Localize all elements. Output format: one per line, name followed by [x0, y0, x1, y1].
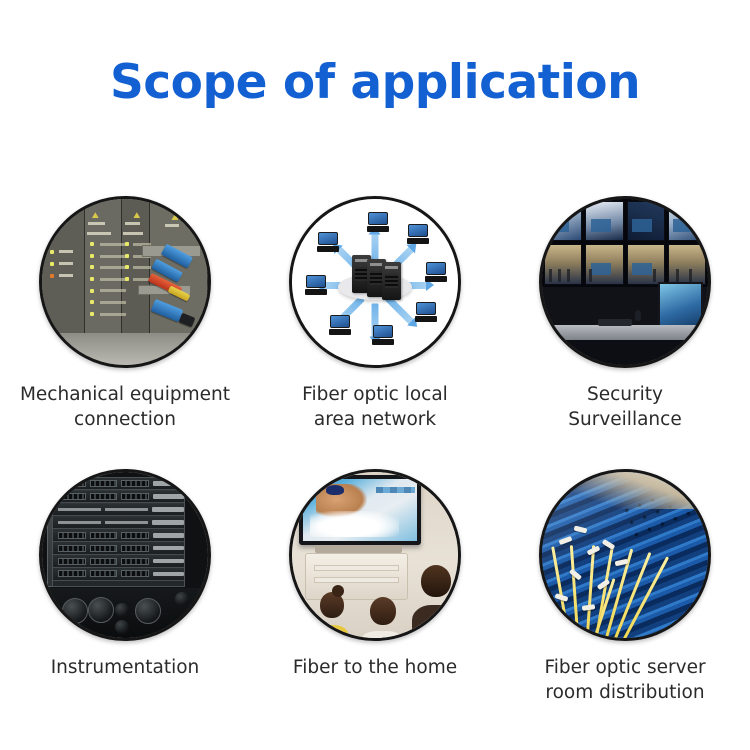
application-item-security-surveillance[interactable]: Security Surveillance	[500, 190, 750, 463]
caption-line-1: Fiber to the home	[293, 657, 457, 678]
image-circle-fiber-to-the-home	[289, 469, 461, 641]
image-circle-wrap	[289, 469, 461, 641]
caption-line-2: area network	[255, 407, 495, 432]
page-title: Scope of application	[0, 55, 750, 110]
caption-fiber-optic-server-room-distribution: Fiber optic server room distribution	[505, 655, 745, 705]
caption-line-2: Surveillance	[505, 407, 745, 432]
application-item-fiber-optic-server-room-distribution[interactable]: Fiber optic server room distribution	[500, 463, 750, 736]
application-item-mechanical-equipment-connection[interactable]: Mechanical equipment connection	[0, 190, 250, 463]
caption-fiber-to-the-home: Fiber to the home	[255, 655, 495, 680]
caption-line-1: Mechanical equipment	[20, 384, 230, 405]
application-item-fiber-optic-local-area-network[interactable]: Fiber optic local area network	[250, 190, 500, 463]
application-item-instrumentation[interactable]: Instrumentation	[0, 463, 250, 736]
image-circle-fiber-optic-lan	[289, 196, 461, 368]
caption-instrumentation: Instrumentation	[5, 655, 245, 680]
scene-security-surveillance	[542, 199, 708, 365]
image-circle-security-surveillance	[539, 196, 711, 368]
caption-line-2: connection	[5, 407, 245, 432]
image-circle-wrap	[289, 196, 461, 368]
scope-of-application-page: Scope of application	[0, 0, 750, 750]
image-circle-wrap	[39, 196, 211, 368]
caption-line-1: Fiber optic local	[302, 384, 448, 405]
image-circle-mechanical-equipment	[39, 196, 211, 368]
caption-fiber-optic-local-area-network: Fiber optic local area network	[255, 382, 495, 432]
scene-fiber-optic-lan	[292, 199, 458, 365]
scene-mechanical-equipment	[42, 199, 208, 365]
application-grid: Mechanical equipment connection	[0, 190, 750, 736]
image-circle-instrumentation	[39, 469, 211, 641]
application-item-fiber-to-the-home[interactable]: Fiber to the home	[250, 463, 500, 736]
caption-line-1: Security	[587, 384, 663, 405]
image-circle-wrap	[39, 469, 211, 641]
scene-instrumentation	[42, 472, 208, 638]
caption-security-surveillance: Security Surveillance	[505, 382, 745, 432]
image-circle-wrap	[539, 469, 711, 641]
image-circle-fiber-optic-server-room	[539, 469, 711, 641]
caption-mechanical-equipment-connection: Mechanical equipment connection	[5, 382, 245, 432]
caption-line-2: room distribution	[505, 680, 745, 705]
caption-line-1: Instrumentation	[51, 657, 200, 678]
scene-fiber-optic-server-room	[542, 472, 708, 638]
image-circle-wrap	[539, 196, 711, 368]
scene-fiber-to-the-home	[292, 472, 458, 638]
caption-line-1: Fiber optic server	[544, 657, 705, 678]
